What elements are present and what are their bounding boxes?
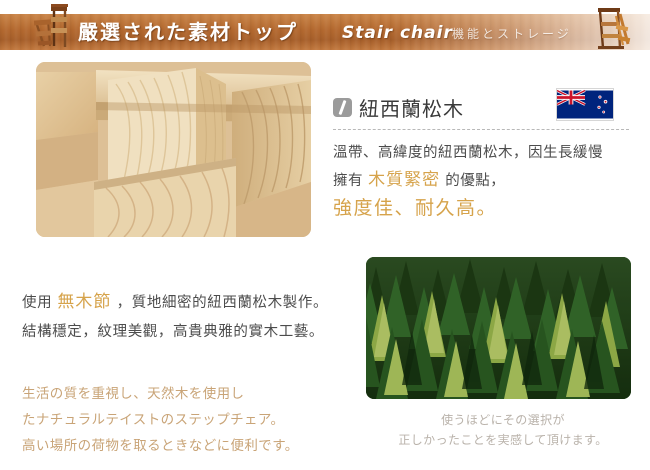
product-description-jp: 生活の質を重視し、天然木を使用し たナチュラルテイストのステップチェア。 高い場… (22, 381, 342, 459)
forest-caption-line-1: 使うほどにその選択が (372, 410, 634, 430)
jp-line-1: 生活の質を重視し、天然木を使用し (22, 381, 342, 407)
step-chair-icon-left (24, 0, 70, 54)
zh-line-2: 結構穩定，紋理美觀，高貴典雅的實木工藝。 (22, 318, 340, 347)
desc-highlight-quality: 木質緊密 (368, 170, 440, 190)
desc-line-2: 擁有 木質緊密 的優點， (333, 167, 639, 195)
forest-caption-line-2: 正しかったことを実感して頂けます。 (372, 430, 634, 450)
desc-line-2-post: 的優點， (445, 173, 505, 189)
pine-forest-photo (366, 257, 631, 399)
slash-badge-icon (333, 98, 352, 117)
material-heading-row: 紐西蘭松木 (333, 92, 464, 122)
banner-title-en: Stair chair (342, 18, 453, 48)
forest-caption: 使うほどにその選択が 正しかったことを実感して頂けます。 (372, 410, 634, 450)
banner-title-jp: 嚴選された素材トップ (78, 15, 298, 49)
promo-banner-page: 嚴選された素材トップ Stair chair 機能とストレージ (0, 0, 650, 470)
material-title: 紐西蘭松木 (359, 93, 464, 122)
zh-line-1-pre: 使用 (22, 295, 52, 311)
zh-highlight-knotfree: 無木節 (57, 292, 111, 312)
desc-line-3: 強度佳、耐久高。 (333, 195, 639, 224)
heading-divider (333, 129, 629, 130)
zh-line-1-post: ，質地細密的紐西蘭松木製作。 (117, 295, 328, 311)
desc-line-1: 溫帶、高緯度的紐西蘭松木，因生長緩慢 (333, 140, 639, 167)
material-description: 溫帶、高緯度的紐西蘭松木，因生長緩慢 擁有 木質緊密 的優點， 強度佳、耐久高。 (333, 140, 639, 224)
jp-line-2: たナチュラルテイストのステップチェア。 (22, 407, 342, 433)
step-chair-icon-right (592, 0, 638, 54)
desc-line-2-pre: 擁有 (333, 173, 363, 189)
jp-line-3: 高い場所の荷物を取るときなどに便利です。 (22, 433, 342, 459)
desc-highlight-strength: 強度佳、耐久高 (333, 197, 477, 219)
new-zealand-flag-icon (556, 88, 614, 121)
product-description-zh: 使用 無木節 ，質地細密的紐西蘭松木製作。 結構穩定，紋理美觀，高貴典雅的實木工… (22, 288, 340, 347)
pine-timber-photo (36, 62, 311, 237)
zh-line-1: 使用 無木節 ，質地細密的紐西蘭松木製作。 (22, 288, 340, 318)
desc-line-3-end: 。 (477, 197, 498, 219)
banner-subtitle-jp: 機能とストレージ (452, 22, 572, 46)
